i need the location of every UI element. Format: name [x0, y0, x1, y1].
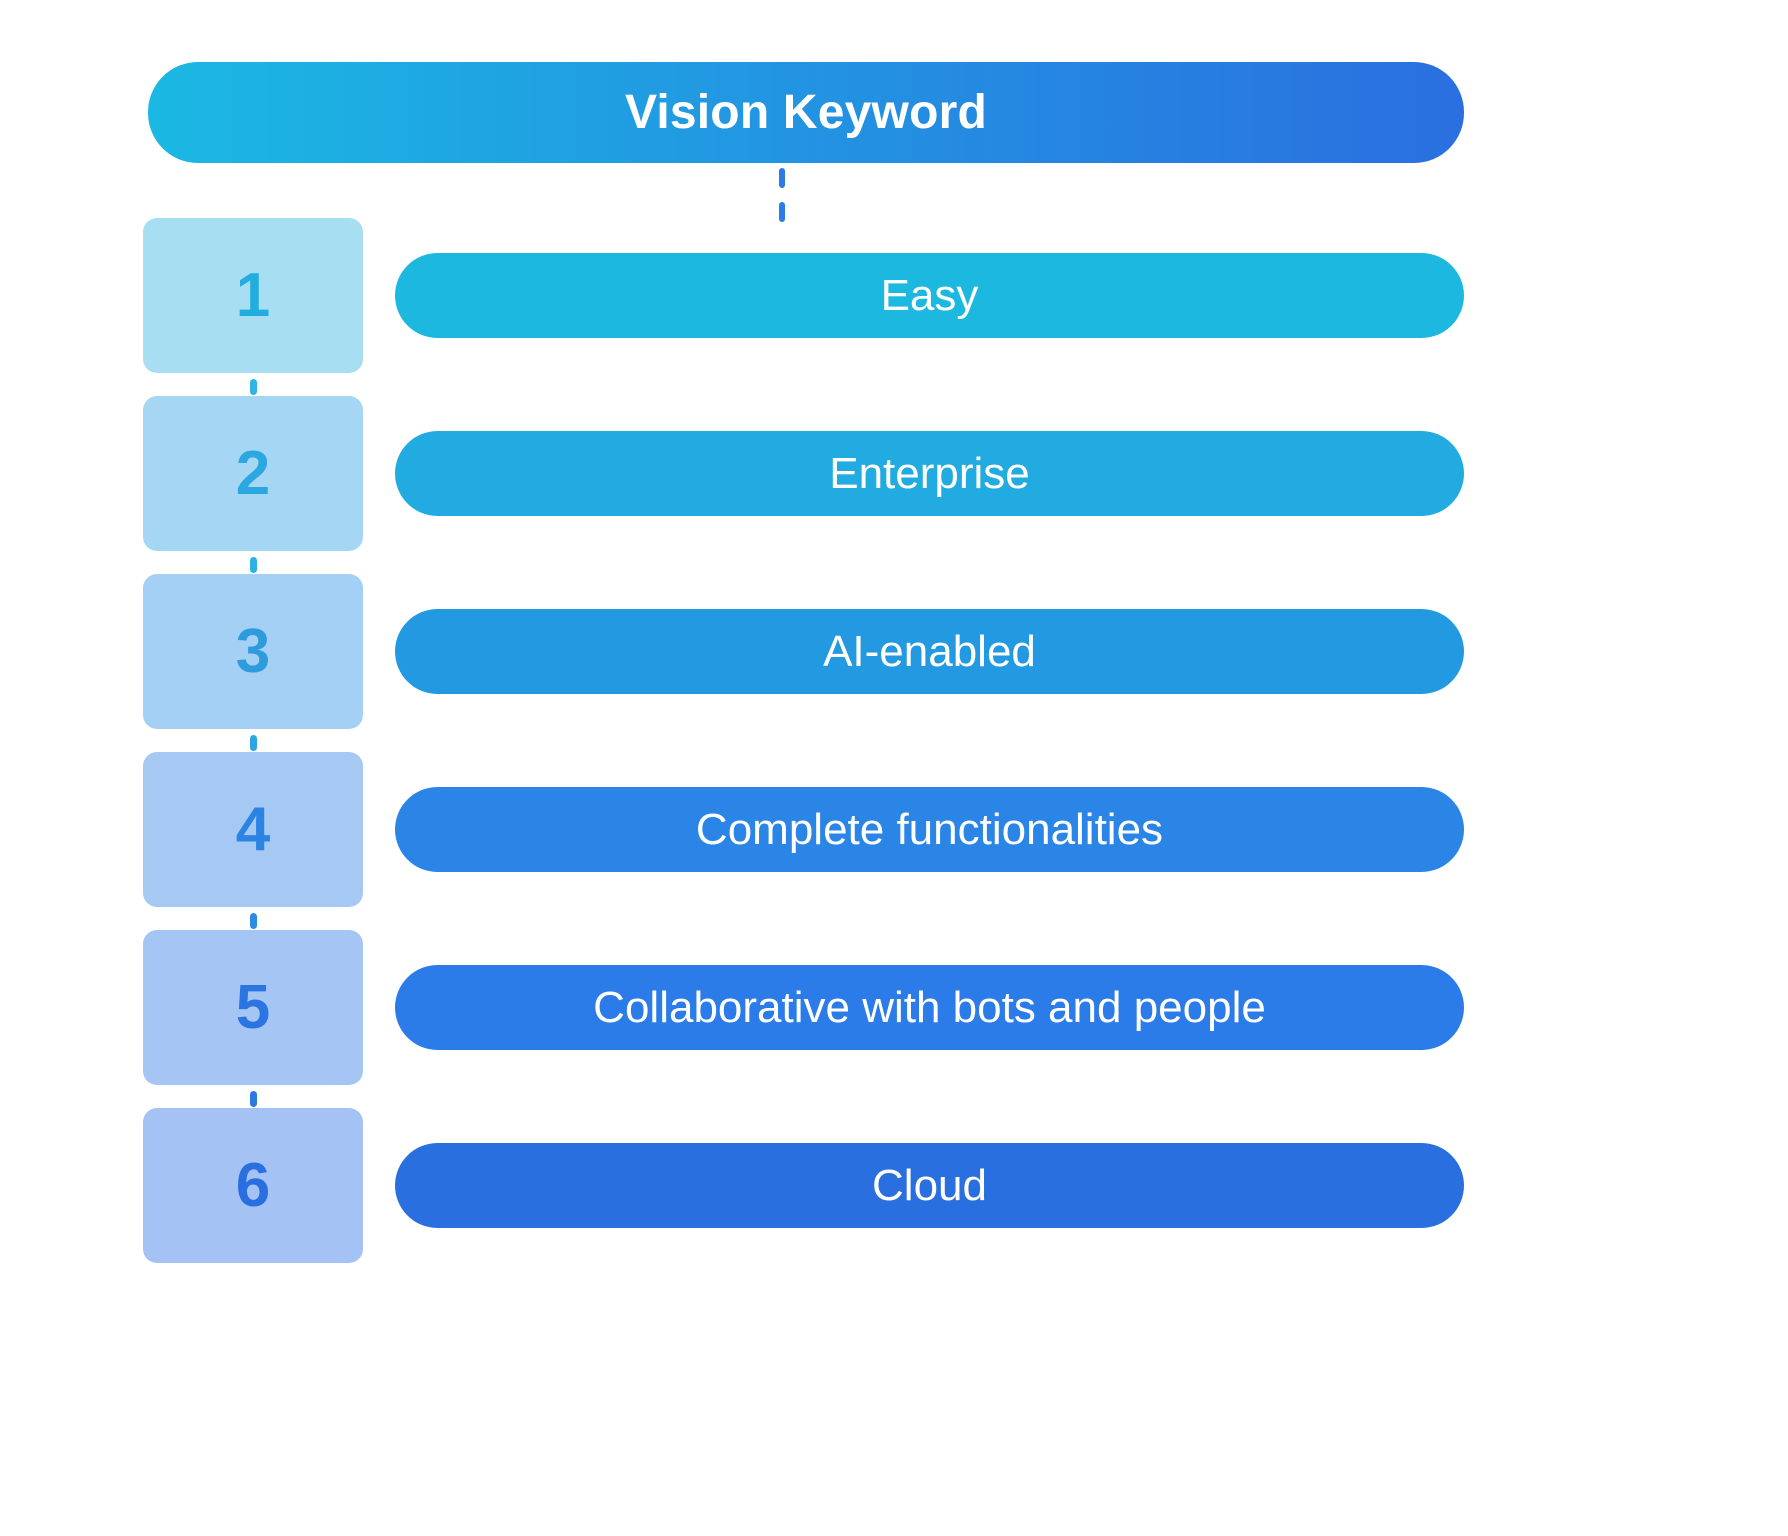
connector-dash	[250, 735, 257, 751]
step-number-box-4[interactable]: 4	[143, 752, 363, 907]
step-row: 1Easy	[0, 218, 1788, 373]
step-label-text: Easy	[881, 274, 979, 318]
step-label-text: Complete functionalities	[696, 808, 1163, 852]
diagram-canvas: Vision Keyword 1Easy2Enterprise3AI-enabl…	[0, 0, 1788, 1536]
connector-dash	[779, 168, 785, 188]
step-label-text: AI-enabled	[823, 630, 1036, 674]
step-label-text: Collaborative with bots and people	[593, 986, 1266, 1030]
step-row: 6Cloud	[0, 1108, 1788, 1263]
step-number-label: 5	[236, 977, 270, 1039]
step-number-box-3[interactable]: 3	[143, 574, 363, 729]
step-number-box-1[interactable]: 1	[143, 218, 363, 373]
step-number-label: 6	[236, 1155, 270, 1217]
step-label-pill-1[interactable]: Easy	[395, 253, 1464, 338]
step-label-pill-4[interactable]: Complete functionalities	[395, 787, 1464, 872]
connector-dash	[250, 913, 257, 929]
page-title: Vision Keyword	[625, 89, 987, 137]
step-number-label: 1	[236, 265, 270, 327]
step-number-label: 3	[236, 621, 270, 683]
step-number-label: 2	[236, 443, 270, 505]
step-number-box-5[interactable]: 5	[143, 930, 363, 1085]
step-row: 2Enterprise	[0, 396, 1788, 551]
step-label-pill-6[interactable]: Cloud	[395, 1143, 1464, 1228]
connector-dash	[250, 379, 257, 395]
connector-dash	[250, 1091, 257, 1107]
step-number-box-6[interactable]: 6	[143, 1108, 363, 1263]
vision-keyword-header: Vision Keyword	[148, 62, 1464, 163]
step-row: 3AI-enabled	[0, 574, 1788, 729]
step-label-text: Cloud	[872, 1164, 987, 1208]
step-number-label: 4	[236, 799, 270, 861]
step-label-pill-3[interactable]: AI-enabled	[395, 609, 1464, 694]
step-label-pill-2[interactable]: Enterprise	[395, 431, 1464, 516]
step-row: 5Collaborative with bots and people	[0, 930, 1788, 1085]
step-label-text: Enterprise	[829, 452, 1030, 496]
step-row: 4Complete functionalities	[0, 752, 1788, 907]
step-label-pill-5[interactable]: Collaborative with bots and people	[395, 965, 1464, 1050]
step-number-box-2[interactable]: 2	[143, 396, 363, 551]
connector-dash	[250, 557, 257, 573]
